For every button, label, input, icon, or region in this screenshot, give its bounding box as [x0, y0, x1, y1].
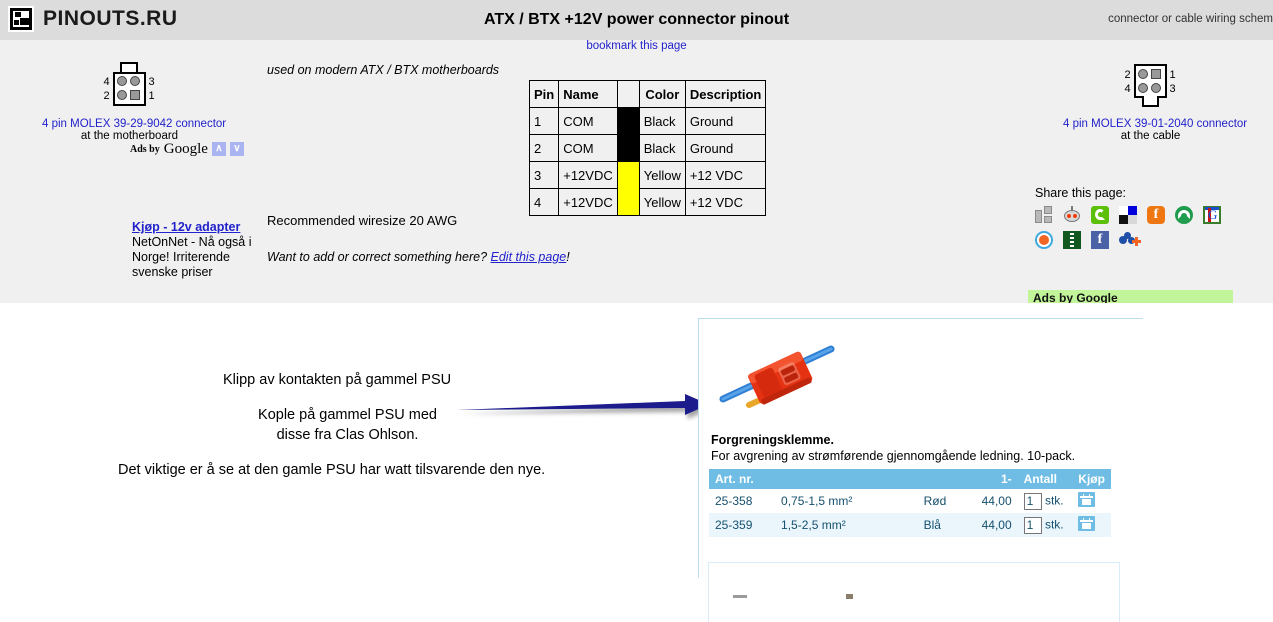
ads-by-label: Ads by [130, 144, 160, 155]
table-row: 3 +12VDC Yellow +12 VDC [530, 162, 766, 189]
pinouts-page-section: PINOUTS.RU ATX / BTX +12V power connecto… [0, 0, 1273, 303]
reddit-icon[interactable] [1063, 206, 1081, 224]
friendfeed-icon[interactable]: f [1147, 206, 1165, 224]
right-connector-link[interactable]: 4 pin MOLEX 39-01-2040 connector [1063, 118, 1238, 130]
cell-description: +12 VDC [685, 189, 766, 216]
quantity-input[interactable] [1024, 493, 1042, 510]
header-size [775, 469, 918, 489]
header-quantity: Antall [1018, 469, 1073, 489]
cell-color: Yellow [639, 162, 685, 189]
color-swatch [617, 162, 639, 189]
cell-quantity: stk. [1018, 513, 1073, 537]
mixx-icon[interactable] [1035, 231, 1053, 249]
cell-size: 1,5-2,5 mm² [775, 513, 918, 537]
edit-prompt-suffix: ! [566, 250, 569, 264]
cell-description: +12 VDC [685, 162, 766, 189]
left-connector-block: 4 3 2 1 4 pin MOLEX 39-29-9042 connector… [42, 62, 217, 142]
cell-pin: 2 [530, 135, 559, 162]
annotation-line-3: Det viktige er å se at den gamle PSU har… [118, 460, 545, 480]
bookmark-link-label: bookmark this page [586, 40, 686, 52]
next-product-card-partial[interactable] [708, 562, 1120, 622]
google-wordmark: Google [164, 143, 208, 156]
cell-quantity: stk. [1018, 489, 1073, 513]
note-recommended-wiresize: Recommended wiresize 20 AWG [267, 213, 457, 228]
molex-39-01-2040-diagram: 2 1 4 3 [1121, 62, 1181, 110]
pin-number-top-left: 4 [104, 77, 110, 88]
cell-color: Rød [918, 489, 971, 513]
cell-color: Black [639, 135, 685, 162]
digg-icon[interactable] [1035, 206, 1053, 224]
header-description: Description [685, 81, 766, 108]
placeholder-line [733, 595, 747, 598]
cell-pin: 1 [530, 108, 559, 135]
facebook-icon[interactable]: f [1091, 231, 1109, 249]
cell-art-nr: 25-358 [709, 489, 775, 513]
clas-ohlson-product-card: Forgreningsklemme. For avgrening av strø… [698, 318, 1143, 578]
pin-number-bottom-right: 3 [1170, 84, 1176, 95]
cell-name: +12VDC [559, 189, 618, 216]
product-title: Forgreningsklemme. [711, 433, 834, 447]
pointer-arrow [455, 392, 715, 427]
pin-number-bottom-right: 1 [149, 91, 155, 102]
molex-39-29-9042-diagram: 4 3 2 1 [100, 62, 160, 110]
header-color [918, 469, 971, 489]
color-swatch [617, 135, 639, 162]
friendfeed-letter: f [1154, 207, 1159, 222]
right-connector-sublabel: at the cable [1063, 130, 1238, 142]
left-connector-link[interactable]: 4 pin MOLEX 39-29-9042 connector [42, 118, 217, 130]
table-row: 2 COM Black Ground [530, 135, 766, 162]
red-splice-connector-photo [719, 337, 839, 422]
google-letter: G [1208, 207, 1217, 223]
share-title: Share this page: [1035, 186, 1221, 200]
cell-price: 44,00 [970, 513, 1017, 537]
pin-number-bottom-left: 2 [104, 91, 110, 102]
cell-pin: 3 [530, 162, 559, 189]
table-row: 1 COM Black Ground [530, 108, 766, 135]
header-pin: Pin [530, 81, 559, 108]
header-price: 1- [970, 469, 1017, 489]
cell-description: Ground [685, 108, 766, 135]
technorati-icon[interactable] [1091, 206, 1109, 224]
share-this-page-block: Share this page: f G f [1035, 186, 1221, 256]
share-row-2: f [1035, 231, 1221, 249]
pin-number-bottom-left: 4 [1125, 84, 1131, 95]
note-edit-prompt: Want to add or correct something here? E… [267, 250, 570, 264]
google-bookmarks-icon[interactable]: G [1203, 206, 1221, 224]
color-swatch [617, 108, 639, 135]
left-google-ad[interactable]: Kjøp - 12v adapter NetOnNet - Nå også i … [132, 220, 252, 280]
table-row: 25-358 0,75-1,5 mm² Rød 44,00 stk. [709, 489, 1111, 513]
site-header: PINOUTS.RU ATX / BTX +12V power connecto… [0, 0, 1273, 40]
chevron-up-icon[interactable]: ∧ [212, 142, 226, 156]
edit-this-page-link[interactable]: Edit this page [491, 250, 567, 264]
pin-number-top-right: 1 [1170, 70, 1176, 81]
cell-color: Yellow [639, 189, 685, 216]
cell-art-nr: 25-359 [709, 513, 775, 537]
ads-by-google-banner: Ads by Google [1028, 290, 1233, 303]
cart-icon[interactable] [1078, 492, 1095, 507]
unit-label: stk. [1045, 517, 1064, 531]
left-ad-body: NetOnNet - Nå også i Norge! Irriterende … [132, 235, 252, 280]
myspace-add-icon[interactable] [1119, 231, 1141, 249]
product-description: For avgrening av strømførende gjennomgåe… [711, 449, 1075, 463]
placeholder-dot [846, 594, 853, 599]
pin-number-top-left: 2 [1125, 70, 1131, 81]
bookmark-this-page-link[interactable]: bookmark this page [0, 40, 1273, 52]
chevron-down-icon[interactable]: ∨ [230, 142, 244, 156]
cell-price: 44,00 [970, 489, 1017, 513]
cell-description: Ground [685, 135, 766, 162]
table-row: 25-359 1,5-2,5 mm² Blå 44,00 stk. [709, 513, 1111, 537]
unit-label: stk. [1045, 493, 1064, 507]
ads-by-google-badge-left[interactable]: Ads by Google ∧ ∨ [130, 142, 244, 156]
note-used-on: used on modern ATX / BTX motherboards [267, 63, 499, 77]
header-art-nr: Art. nr. [709, 469, 775, 489]
header-tagline: connector or cable wiring schem [1108, 13, 1273, 25]
cell-pin: 4 [530, 189, 559, 216]
cell-color: Blå [918, 513, 971, 537]
product-table-header-row: Art. nr. 1- Antall Kjøp [709, 469, 1111, 489]
edit-prompt-text: Want to add or correct something here? [267, 250, 491, 264]
color-swatch [617, 189, 639, 216]
delicious-icon[interactable] [1119, 206, 1137, 224]
cell-size: 0,75-1,5 mm² [775, 489, 918, 513]
left-ad-title[interactable]: Kjøp - 12v adapter [132, 220, 252, 235]
facebook-letter: f [1098, 232, 1103, 247]
cell-name: +12VDC [559, 162, 618, 189]
pinout-table-header-row: Pin Name Color Description [530, 81, 766, 108]
newsvine-icon[interactable] [1063, 231, 1081, 249]
cell-buy [1072, 489, 1111, 513]
header-name: Name [559, 81, 618, 108]
pin-number-top-right: 3 [149, 77, 155, 88]
share-row-1: f G [1035, 206, 1221, 224]
header-buy: Kjøp [1072, 469, 1111, 489]
table-row: 4 +12VDC Yellow +12 VDC [530, 189, 766, 216]
cell-name: COM [559, 108, 618, 135]
cell-color: Black [639, 108, 685, 135]
header-color: Color [639, 81, 685, 108]
annotation-line-1: Klipp av kontakten på gammel PSU [223, 370, 451, 390]
pinout-table: Pin Name Color Description 1 COM Black G… [529, 80, 766, 216]
quantity-input[interactable] [1024, 517, 1042, 534]
right-connector-block: 2 1 4 3 4 pin MOLEX 39-01-2040 connector… [1063, 62, 1238, 142]
cart-icon[interactable] [1078, 516, 1095, 531]
product-variants-table: Art. nr. 1- Antall Kjøp 25-358 0,75-1,5 … [709, 469, 1111, 537]
page-title: ATX / BTX +12V power connector pinout [0, 11, 1273, 29]
cell-buy [1072, 513, 1111, 537]
stumbleupon-icon[interactable] [1175, 206, 1193, 224]
annotation-line-2: Kople på gammel PSU med disse fra Clas O… [245, 405, 450, 445]
cell-name: COM [559, 135, 618, 162]
header-swatch [617, 81, 639, 108]
